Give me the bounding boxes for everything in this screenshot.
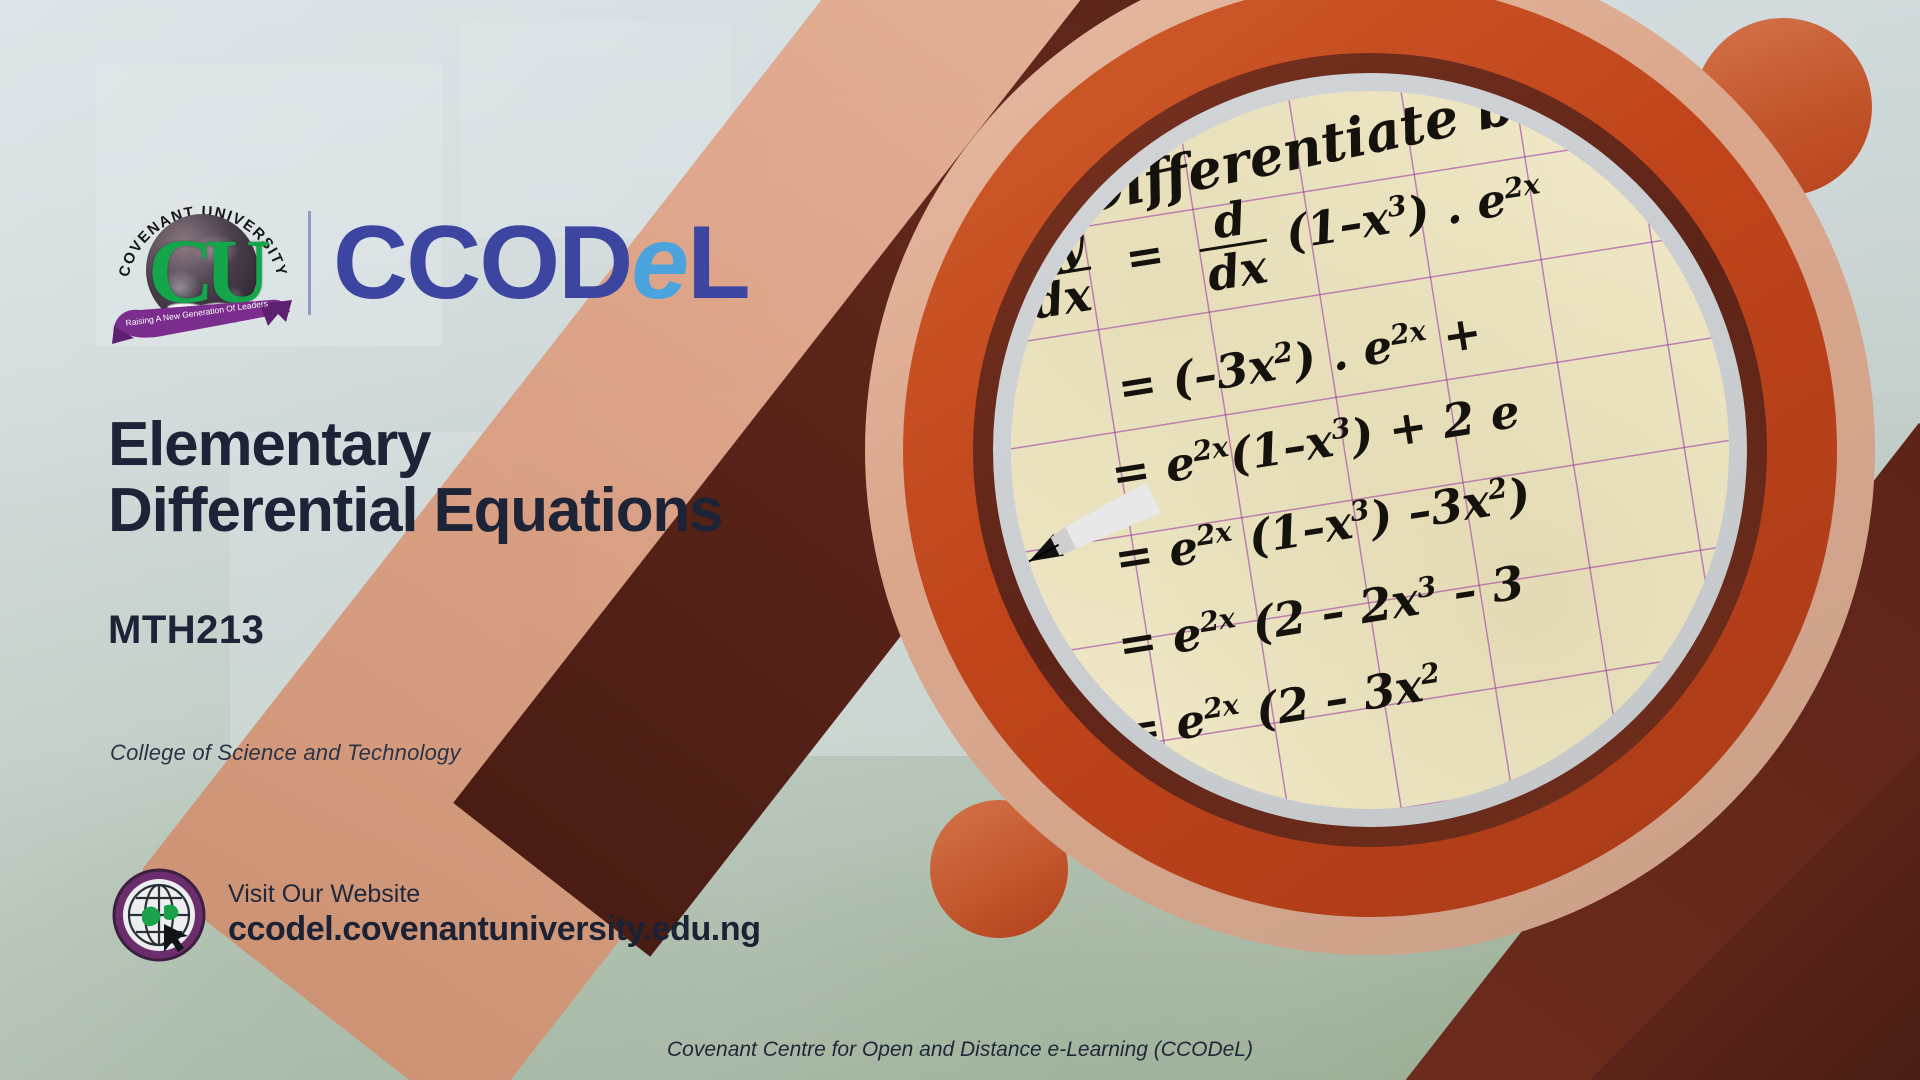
footer-caption: Covenant Centre for Open and Distance e-… [0, 1038, 1920, 1062]
logo-lockup: COVENANT UNIVERSITY CU Raising A New Gen… [108, 168, 749, 358]
wordmark-l: L [687, 211, 749, 315]
magnifier-illustration: Differentiate bo dydx = ddx (1–x3) . e2x… [865, 0, 1875, 955]
covenant-university-logo: COVENANT UNIVERSITY CU Raising A New Gen… [108, 168, 298, 358]
wordmark-ccod: CCOD [333, 211, 631, 315]
motto-ribbon: Raising A New Generation Of Leaders [110, 296, 296, 358]
course-code: MTH213 [108, 608, 264, 653]
website-block[interactable]: Visit Our Website ccodel.covenantunivers… [112, 868, 761, 962]
logo-divider [308, 211, 311, 315]
website-text: Visit Our Website ccodel.covenantunivers… [228, 881, 761, 950]
ccodel-wordmark: CCODeL [333, 211, 749, 315]
math-line-7: = e2x (2 – 3x2 [1118, 655, 1445, 759]
banner-canvas: Differentiate bo dydx = ddx (1–x3) . e2x… [0, 0, 1920, 1080]
course-title: Elementary Differential Equations [108, 412, 868, 543]
college-name: College of Science and Technology [110, 740, 461, 766]
handwritten-calculus: Differentiate bo dydx = ddx (1–x3) . e2x… [1011, 91, 1729, 809]
course-title-line1: Elementary [108, 412, 868, 478]
course-title-line2: Differential Equations [108, 478, 868, 544]
magnifier-lens: Differentiate bo dydx = ddx (1–x3) . e2x… [1011, 91, 1729, 809]
website-label: Visit Our Website [228, 881, 761, 909]
globe-cursor-icon [112, 868, 206, 962]
website-url[interactable]: ccodel.covenantuniversity.edu.ng [228, 910, 761, 949]
wordmark-e: e [631, 211, 687, 315]
content-column: COVENANT UNIVERSITY CU Raising A New Gen… [0, 0, 900, 1080]
